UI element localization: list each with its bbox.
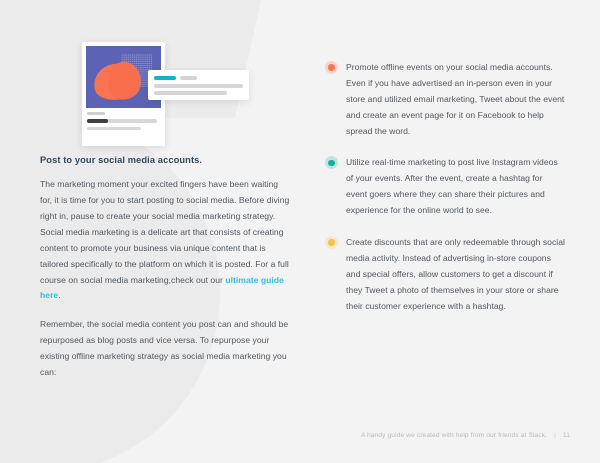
bullet-dot-orange-icon (328, 64, 335, 71)
bullet-list: Promote offline events on your social me… (325, 60, 565, 314)
social-media-illustration (82, 42, 252, 147)
popup-secondary-chip (180, 76, 197, 80)
left-text-column: Post to your social media accounts. The … (40, 155, 292, 381)
bullet-dot-teal-icon (328, 160, 335, 167)
paragraph-1-tail: . (58, 290, 60, 300)
list-item: Promote offline events on your social me… (325, 60, 565, 139)
list-item: Create discounts that are only redeemabl… (325, 235, 565, 314)
bullet-marker-2 (325, 155, 346, 168)
page-footer: A handy guide we created with help from … (361, 432, 570, 439)
post-text-placeholder-line (87, 127, 141, 130)
popup-accent-chip (154, 76, 176, 80)
bullet-text-1: Promote offline events on your social me… (346, 60, 565, 139)
footer-credit: A handy guide we created with help from … (361, 432, 547, 439)
bullet-text-2: Utilize real-time marketing to post live… (346, 155, 565, 219)
page-canvas: Post to your social media accounts. The … (0, 0, 600, 463)
body-paragraph-1: The marketing moment your excited finger… (40, 177, 292, 304)
popup-placeholder-line-2 (154, 91, 227, 95)
post-progress-fill (87, 119, 108, 123)
bullet-marker-1 (325, 60, 346, 73)
popup-placeholder-line-1 (154, 84, 243, 88)
body-paragraph-2: Remember, the social media content you p… (40, 317, 292, 381)
page-number: 11 (563, 432, 570, 439)
comment-popup-card (148, 70, 249, 100)
footer-separator: | (554, 432, 556, 439)
bullet-dot-yellow-icon (328, 239, 335, 246)
paragraph-1-text: The marketing moment your excited finger… (40, 179, 289, 284)
list-item: Utilize real-time marketing to post live… (325, 155, 565, 219)
bullet-marker-3 (325, 235, 346, 248)
bullet-text-3: Create discounts that are only redeemabl… (346, 235, 565, 314)
post-progress-track (87, 119, 157, 123)
section-heading: Post to your social media accounts. (40, 155, 292, 166)
post-meta-placeholder (87, 112, 105, 115)
